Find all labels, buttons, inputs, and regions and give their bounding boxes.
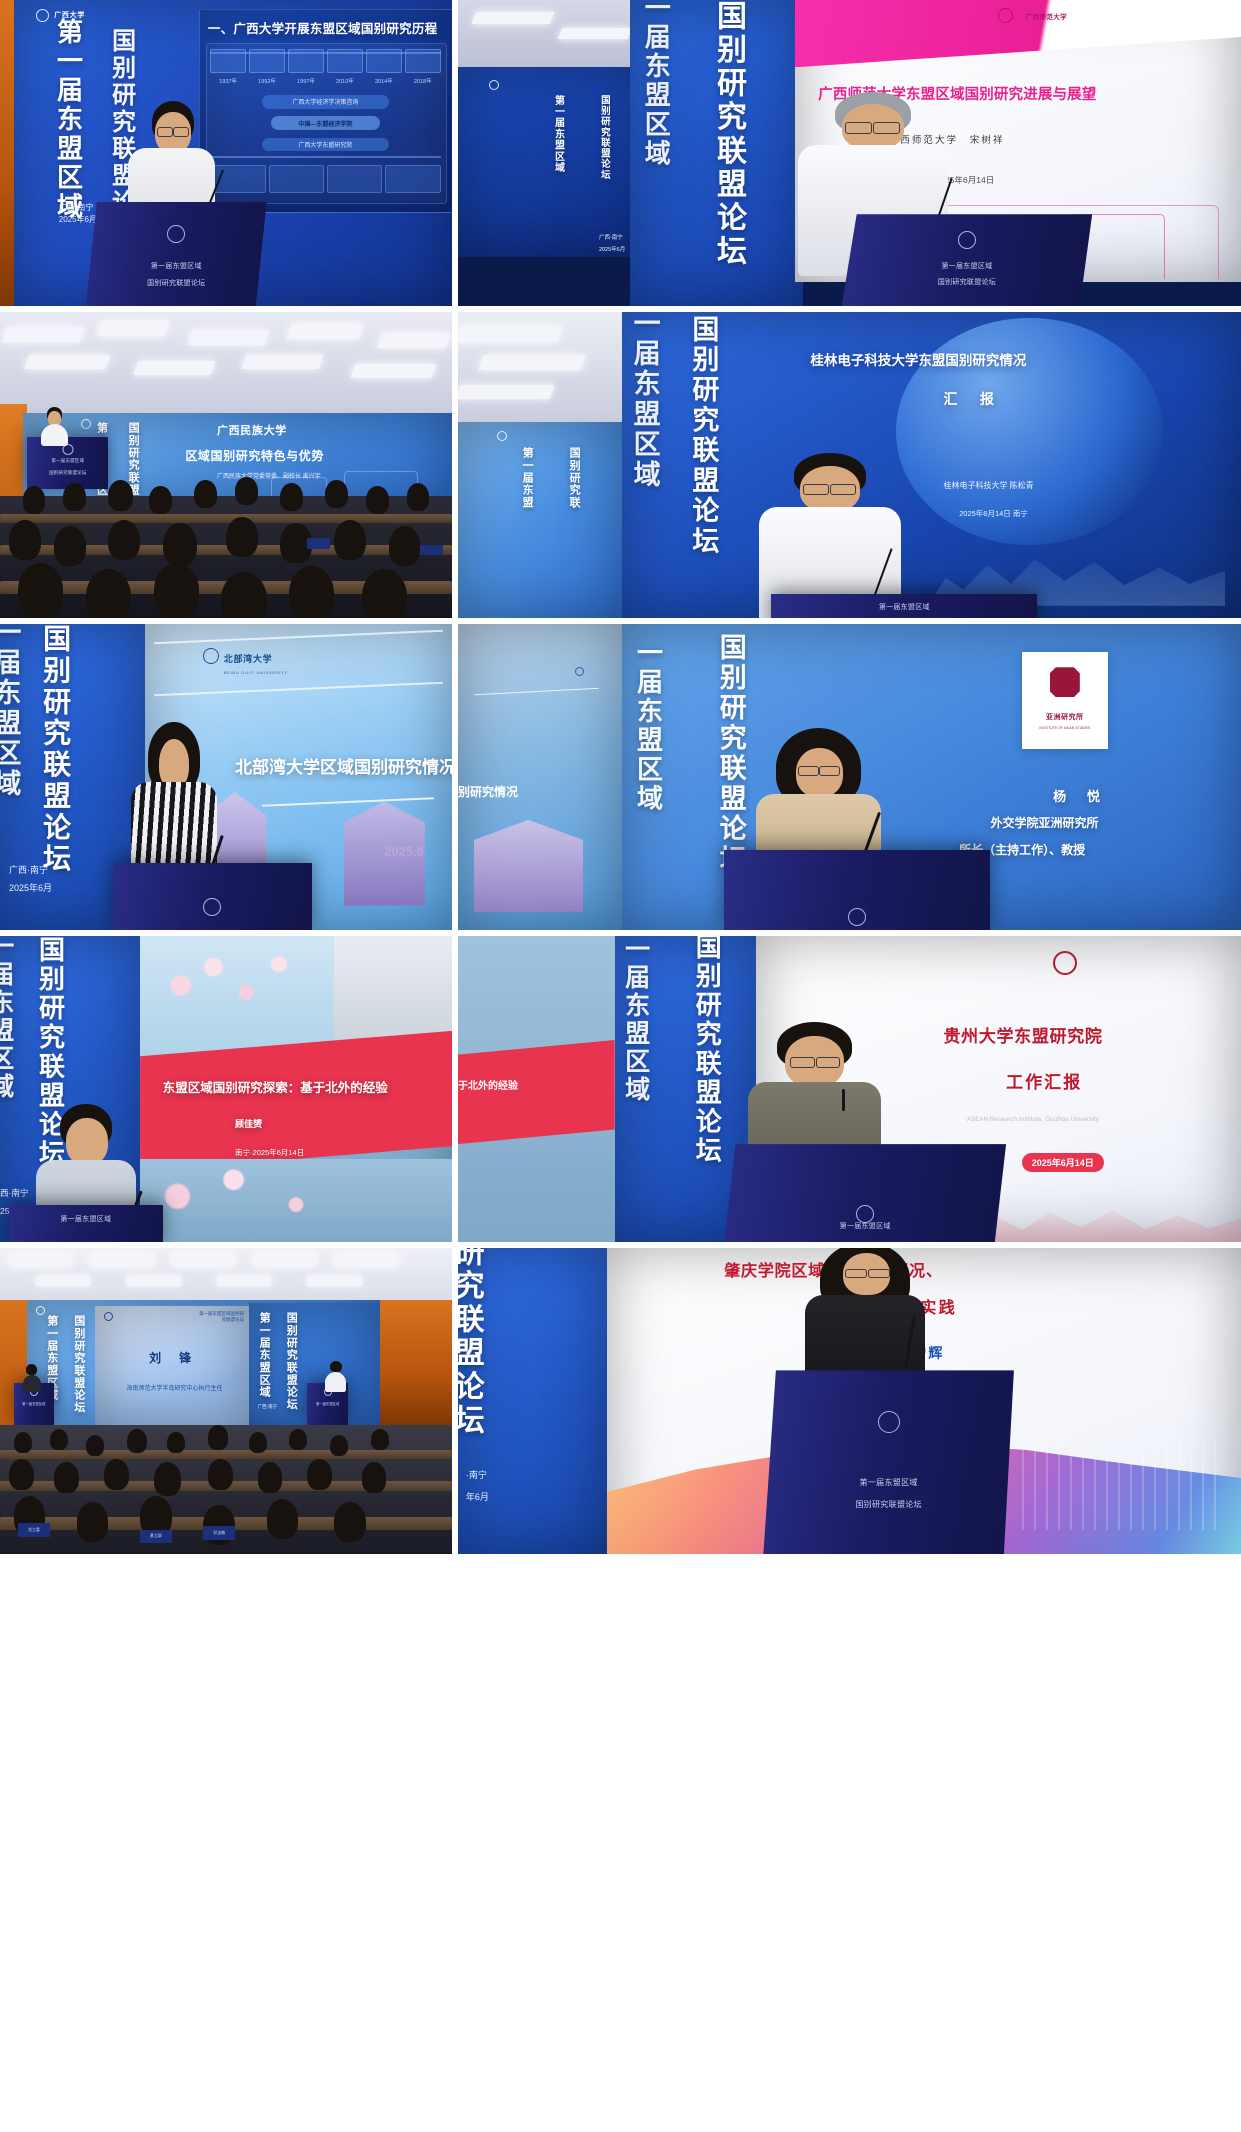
lectern-text: 第一届东盟区域 <box>86 262 267 273</box>
gxnu-seal-icon <box>998 8 1013 23</box>
scene-3: 第一届东盟区域 国别研究联盟论坛 广西民族大学 区域国别研究特色与优势 广西民族… <box>0 312 452 618</box>
photo-collage-page: 广西大学 第一届东盟区域 国别研究联盟论坛 广西·南宁 2025年6月 一、广西… <box>0 0 1241 2132</box>
audience-head <box>226 517 258 557</box>
audience-head <box>362 1462 387 1493</box>
institute-name: 亚洲研究所 <box>1022 712 1108 722</box>
lectern: 第一届东盟区域 <box>724 1144 1006 1242</box>
audience-head <box>154 1462 181 1496</box>
ceiling-light <box>2 327 84 342</box>
scene-4: 第一届东盟 国别研究联 一届东盟区域 国别研究联盟论坛 桂林电子科技大学东盟国别… <box>458 312 1241 618</box>
ceiling-light <box>377 333 450 348</box>
audience-head <box>154 563 199 618</box>
slide-title: 贵州大学东盟研究院 <box>943 1022 1102 1047</box>
right-title-col2: 国别研究联盟论坛 <box>285 1312 297 1411</box>
lectern-text: 第一届东盟区域 <box>771 603 1037 614</box>
slide-box-2: 中国—东盟经济学院 <box>271 116 379 130</box>
backdrop-title-col2: 国别研究联盟论坛 <box>712 0 744 269</box>
audience-head <box>407 483 430 511</box>
audience-head <box>371 1429 389 1450</box>
timeline-row-2 <box>210 165 441 193</box>
photo-panel-4[interactable]: 第一届东盟 国别研究联 一届东盟区域 国别研究联盟论坛 桂林电子科技大学东盟国别… <box>458 312 1241 618</box>
slide-box-1: 广西大学经济学决策咨询 <box>262 95 389 109</box>
photo-panel-2[interactable]: 第一届东盟区域 国别研究联盟论坛 广西·南宁 2025年6月 一届东盟区域 国别… <box>458 0 1241 306</box>
backdrop-location: 广西·南宁 <box>9 863 48 876</box>
side-slide-title-fragment: 别研究情况 <box>458 783 518 800</box>
backdrop-date: 2025年6月 <box>9 881 52 894</box>
lectern-text: 第一届东盟区域 <box>763 1477 1014 1489</box>
slide-org-logo: 广西师范大学 <box>1026 11 1067 21</box>
side-monitor-title: 第一届东盟区域 <box>552 95 563 173</box>
side-monitor-title-2: 国别研究联盟论坛 <box>599 95 609 180</box>
ceiling-light <box>127 1276 181 1287</box>
photo-panel-9[interactable]: 第一届东盟区域 国别研究联盟论坛 第一届东盟区域国别研究联盟论坛 刘 锋 海南师… <box>0 1248 452 1554</box>
side-title-col2: 国别研究联 <box>568 447 580 509</box>
audience-head <box>86 1435 104 1456</box>
backdrop-title-col1: 第一届东盟区域 <box>54 18 81 222</box>
photo-panel-5[interactable]: 一届东盟区域 国别研究联盟论坛 广西·南宁 2025年6月 北部湾大学 BEIB… <box>0 624 452 930</box>
ceiling-light <box>172 1254 235 1266</box>
audience-head <box>163 523 197 566</box>
ceiling-light <box>25 355 111 369</box>
lectern: 第一届东盟区域 <box>9 1205 163 1242</box>
audience-head <box>108 480 133 511</box>
scene-5: 一届东盟区域 国别研究联盟论坛 广西·南宁 2025年6月 北部湾大学 BEIB… <box>0 624 452 930</box>
ceiling-light <box>253 1254 316 1266</box>
backdrop-title-col1: 一届东盟区域 <box>622 936 648 1104</box>
timeline-axis-2 <box>210 156 441 158</box>
side-slide-title-fragment: 于北外的经验 <box>458 1077 518 1092</box>
lectern-text: 第一届东盟区域 <box>27 458 108 465</box>
scene-1: 广西大学 第一届东盟区域 国别研究联盟论坛 广西·南宁 2025年6月 一、广西… <box>0 0 452 306</box>
ceiling-light <box>36 1276 90 1287</box>
audience-head <box>325 480 348 508</box>
audience-head <box>258 1462 283 1493</box>
lectern-text: 第一届东盟区域 <box>14 1402 55 1407</box>
slide-title: 广西民族大学 <box>217 422 287 438</box>
slide-date-badge: 2025年6月14日 <box>1022 1153 1104 1172</box>
slide-corner-badge: 第一届东盟区域国别研究联盟论坛 <box>199 1311 244 1323</box>
audience-head <box>23 486 46 514</box>
photo-panel-1[interactable]: 广西大学 第一届东盟区域 国别研究联盟论坛 广西·南宁 2025年6月 一、广西… <box>0 0 452 306</box>
lectern-text-2: 国别研究联盟论坛 <box>763 1499 1014 1511</box>
photo-panel-10[interactable]: 研究联盟论坛 ·南宁 年6月 肇庆学院区域国别研究概况、 特色与实践 于增辉 区… <box>458 1248 1241 1554</box>
slide-date: 南宁·2025年6月14日 <box>235 1147 304 1158</box>
lectern: 第一届东盟区域 国别研究联盟论坛 <box>763 1370 1014 1554</box>
audience-head <box>9 520 41 560</box>
audience-head <box>307 1459 332 1490</box>
lectern: 第一届东盟区域 国别研究联盟论坛 <box>842 214 1093 306</box>
desk-nameplate: 黄立群 <box>140 1530 172 1544</box>
campus-building-graphic <box>344 801 425 905</box>
timeline-years: 1937年 1992年 1997年 2010年 2014年 2018年 <box>210 77 441 85</box>
desk-nameplate: 邓宝敏 <box>203 1526 235 1540</box>
ceiling-light <box>90 1254 153 1266</box>
slide-affiliation: 海南师范大学半岛研究中心执行主任 <box>127 1383 223 1392</box>
right-location: 广西·南宁 <box>258 1404 278 1410</box>
blossom-photo-bottom <box>140 1159 452 1242</box>
slide-affiliation: 外交学院亚洲研究所 <box>990 814 1098 831</box>
audience-head <box>104 1459 129 1490</box>
ceiling-light <box>557 28 632 39</box>
audience-head <box>289 1429 307 1450</box>
photo-panel-3[interactable]: 第一届东盟区域 国别研究联盟论坛 广西民族大学 区域国别研究特色与优势 广西民族… <box>0 312 452 618</box>
institute-logo-card: 亚洲研究所 INSTITUTE OF ASIAN STUDIES <box>1022 652 1108 750</box>
backdrop-title-col2: 国别研究联盟论坛 <box>41 624 70 875</box>
ceiling-light <box>334 1254 397 1266</box>
slide-title-2: 工作汇报 <box>1006 1068 1082 1093</box>
ceiling-light <box>9 1254 72 1266</box>
slide-box-3: 广西大学东盟研究院 <box>262 138 389 152</box>
backdrop-location: ·南宁 <box>466 1468 487 1481</box>
staff-figure <box>23 1364 41 1392</box>
audience-head <box>149 486 172 514</box>
ceiling-light <box>286 324 364 339</box>
ceiling-light <box>242 355 324 369</box>
staff-figure <box>325 1361 345 1392</box>
ceiling-light <box>307 1276 361 1287</box>
slide-title-2: 汇 报 <box>943 389 998 409</box>
timeline-row <box>210 49 441 73</box>
audience-head <box>63 483 86 511</box>
backdrop-title-col2: 国别研究联盟论坛 <box>693 936 720 1166</box>
backdrop-title-col1: 一届东盟区域 <box>634 639 661 814</box>
audience-head <box>334 1502 366 1542</box>
handheld-microphone <box>842 1089 845 1111</box>
side-monitor-sub: 广西·南宁 <box>599 233 623 241</box>
audience-head <box>366 486 389 514</box>
slide-title: 刘 锋 <box>149 1349 194 1366</box>
desk-nameplate: 龙立富 <box>18 1523 50 1537</box>
slide-author: 杨 悦 <box>1053 786 1104 805</box>
scene-8: 于北外的经验 一届东盟区域 国别研究联盟论坛 贵州大学东盟研究院 工作汇报 AS… <box>458 936 1241 1242</box>
audience-head <box>330 1435 348 1456</box>
desk-nameplate <box>307 538 330 549</box>
curtain-right <box>371 1300 452 1425</box>
audience-head <box>194 480 217 508</box>
audience-head <box>127 1429 147 1453</box>
audience-head <box>54 526 86 566</box>
lectern-text-2: 国别研究联盟论坛 <box>27 470 108 477</box>
scene-6: 别研究情况 一届东盟区域 国别研究联盟论坛 亚洲研究所 INSTITUTE OF… <box>458 624 1241 930</box>
audience-head <box>108 520 140 560</box>
screen-title-col2: 国别研究联盟论坛 <box>72 1315 84 1414</box>
slide-date: 2025年6月14日 南宁 <box>959 508 1028 519</box>
audience-head <box>389 526 421 566</box>
photo-panel-8[interactable]: 于北外的经验 一届东盟区域 国别研究联盟论坛 贵州大学东盟研究院 工作汇报 AS… <box>458 936 1241 1242</box>
slide-subtitle: 区域国别研究特色与优势 <box>185 447 324 464</box>
right-title-col1: 第一届东盟区域 <box>258 1312 270 1398</box>
backdrop-date: 年6月 <box>466 1490 489 1503</box>
skyline-sketch <box>1022 1438 1226 1530</box>
side-title-col1: 第一届东盟 <box>521 447 533 509</box>
audience-head <box>9 1459 34 1490</box>
slide-org-logo-en: BEIBU GULF UNIVERSITY <box>224 670 288 675</box>
lectern-text: 第一届东盟区域 <box>307 1402 348 1407</box>
audience-head <box>289 566 334 618</box>
lectern-text: 第一届东盟区域 <box>9 1215 163 1226</box>
backdrop-title-col2: 国别研究联盟论坛 <box>689 315 717 557</box>
university-seal-icon <box>489 80 499 90</box>
lectern-text-2: 国别研究联盟论坛 <box>842 278 1093 289</box>
desk-row <box>0 1450 452 1459</box>
audience-head <box>362 569 407 618</box>
ceiling-light <box>133 361 215 375</box>
speaker-figure <box>803 1248 928 1383</box>
photo-grid: 广西大学 第一届东盟区域 国别研究联盟论坛 广西·南宁 2025年6月 一、广西… <box>0 0 1241 2132</box>
scene-2: 第一届东盟区域 国别研究联盟论坛 广西·南宁 2025年6月 一届东盟区域 国别… <box>458 0 1241 306</box>
backdrop-title-col1: 一届东盟区域 <box>0 936 13 1101</box>
slide-subtitle-en: ASEAN Research Institute, Guizhou Univer… <box>967 1117 1099 1123</box>
slide-author: 桂林电子科技大学 陈松青 <box>943 480 1033 491</box>
institute-name-en: INSTITUTE OF ASIAN STUDIES <box>1022 726 1108 730</box>
lectern-text-2: 国别研究联盟论坛 <box>86 279 267 290</box>
audience-head <box>50 1429 68 1450</box>
audience-head <box>267 1499 299 1539</box>
slide-title: 东盟区域国别研究探索：基于北外的经验 <box>163 1077 388 1096</box>
audience-head <box>54 1462 79 1493</box>
desk-nameplate <box>420 545 443 556</box>
photo-panel-6[interactable]: 别研究情况 一届东盟区域 国别研究联盟论坛 亚洲研究所 INSTITUTE OF… <box>458 624 1241 930</box>
red-banner-fragment <box>458 1040 615 1144</box>
audience-head <box>14 1432 32 1453</box>
slide-heading: 一、广西大学开展东盟区域国别研究历程 <box>208 18 438 37</box>
audience-head <box>167 1432 185 1453</box>
audience-head <box>208 1459 233 1490</box>
audience-head <box>18 563 63 618</box>
slide-title: 桂林电子科技大学东盟国别研究情况 <box>810 349 1026 369</box>
scene-7: 一届东盟区域 国别研究联盟论坛 西·南宁 25年6月 东盟区域国别研究探索：基于… <box>0 936 452 1242</box>
slide-org-logo: 北部湾大学 <box>224 652 273 665</box>
audience-head <box>235 477 258 505</box>
backdrop-date: 2025年6月 <box>59 214 97 225</box>
audience-head <box>221 572 266 618</box>
desk-row <box>0 514 452 523</box>
slide-author: 顾佳赟 <box>235 1117 262 1130</box>
lectern-text: 第一届东盟区域 <box>842 262 1093 273</box>
scene-9: 第一届东盟区域 国别研究联盟论坛 第一届东盟区域国别研究联盟论坛 刘 锋 海南师… <box>0 1248 452 1554</box>
photo-panel-7[interactable]: 一届东盟区域 国别研究联盟论坛 西·南宁 25年6月 东盟区域国别研究探索：基于… <box>0 936 452 1242</box>
speaker-figure <box>41 407 68 444</box>
audience-head <box>86 569 131 618</box>
audience-head <box>334 520 366 560</box>
lectern: 第一届东盟区域 <box>771 594 1037 618</box>
backdrop-title-col: 研究联盟论坛 <box>458 1248 482 1437</box>
lectern-text: 第一届东盟区域 <box>724 1222 1006 1233</box>
audience-head <box>208 1425 228 1449</box>
ceiling-light <box>217 1276 271 1287</box>
scene-10: 研究联盟论坛 ·南宁 年6月 肇庆学院区域国别研究概况、 特色与实践 于增辉 区… <box>458 1248 1241 1554</box>
ceiling-light <box>458 385 554 399</box>
ceiling-light <box>187 330 269 345</box>
asian-studies-emblem-icon <box>1050 667 1080 697</box>
backdrop-location: 西·南宁 <box>0 1187 28 1199</box>
lectern: 第一届东盟区域 国别研究联盟论坛 <box>86 202 267 306</box>
ceiling-light <box>97 321 170 336</box>
backdrop-location: 广西·南宁 <box>59 202 94 213</box>
audience-head <box>280 483 303 511</box>
side-monitor-date: 2025年6月 <box>599 245 625 253</box>
ceiling-light <box>350 364 436 378</box>
backdrop-title-col1: 一届东盟区域 <box>630 312 658 490</box>
audience-head <box>77 1502 109 1542</box>
lectern <box>724 850 990 930</box>
backdrop-title-col1: 一届东盟区域 <box>642 0 669 169</box>
side-led-screen <box>458 422 622 618</box>
audience-head <box>249 1432 267 1453</box>
ceiling-light <box>458 327 563 342</box>
backdrop-title-col2: 国别研究联盟论坛 <box>716 633 744 875</box>
slide-title: 北部湾大学区域国别研究情况 <box>235 753 452 778</box>
lectern <box>113 863 312 930</box>
lectern: 第一届东盟区域 国别研究联盟论坛 <box>27 437 108 489</box>
ceiling-light <box>471 12 555 24</box>
backdrop-title-col1: 一届东盟区域 <box>0 624 19 799</box>
ceiling-light <box>479 355 586 370</box>
